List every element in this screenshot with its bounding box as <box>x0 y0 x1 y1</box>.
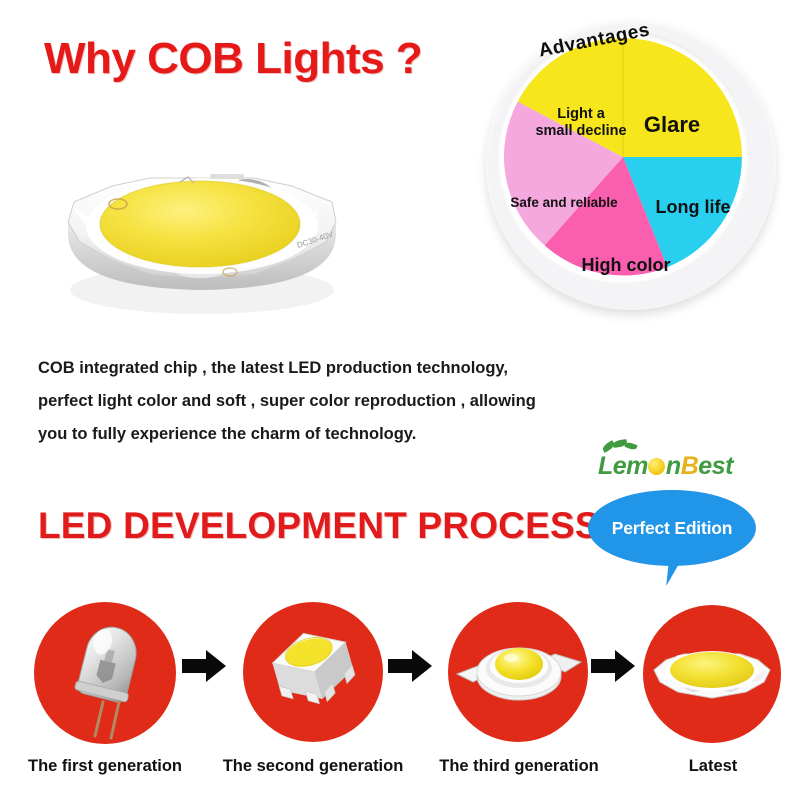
page-title: Why COB Lights ? <box>44 34 422 84</box>
arrow-head <box>206 650 226 682</box>
logo-letter-l: L <box>598 452 613 480</box>
logo-letter-b: B <box>681 452 699 480</box>
pie-svg <box>504 38 742 276</box>
generation-caption-1: The first generation <box>10 757 200 776</box>
arrow-head <box>615 650 635 682</box>
logo-letters-em: em <box>613 452 648 480</box>
arrow-shaft <box>182 659 208 673</box>
process-arrow-3 <box>591 650 637 682</box>
arrow-head <box>412 650 432 682</box>
cob-chip-svg: DC30-40V <box>40 138 360 323</box>
pie-slices <box>504 38 742 276</box>
section-title-led-process: LED DEVELOPMENT PROCESS <box>38 505 600 547</box>
generation-caption-4: Latest <box>657 757 769 776</box>
cob-led-icon <box>650 638 774 712</box>
process-arrow-1 <box>182 650 228 682</box>
arrow-shaft <box>388 659 414 673</box>
process-arrow-2 <box>388 650 434 682</box>
lemonbest-logo: LemnBest <box>598 452 733 481</box>
generation-caption-3: The third generation <box>424 757 614 776</box>
smd-led-icon <box>262 618 366 722</box>
description-line-1: COB integrated chip , the latest LED pro… <box>38 352 598 385</box>
leaf-icon-3 <box>624 441 637 451</box>
logo-letter-n: n <box>666 452 681 480</box>
high-power-led-icon <box>455 630 583 712</box>
through-hole-led-icon <box>55 610 165 740</box>
generation-caption-2: The second generation <box>213 757 413 776</box>
arrow-shaft <box>591 659 617 673</box>
advantages-pie-chart: Advantages Glare Long life High color Sa… <box>478 12 790 322</box>
speech-bubble: Perfect Edition <box>588 490 756 566</box>
description-line-2: perfect light color and soft , super col… <box>38 385 598 418</box>
description-paragraph: COB integrated chip , the latest LED pro… <box>38 352 598 451</box>
cob-chip-image: DC30-40V <box>40 138 360 323</box>
speech-bubble-text: Perfect Edition <box>612 518 733 539</box>
lemon-icon <box>648 458 665 475</box>
logo-letters-est: est <box>698 452 733 480</box>
description-line-3: you to fully experience the charm of tec… <box>38 418 598 451</box>
